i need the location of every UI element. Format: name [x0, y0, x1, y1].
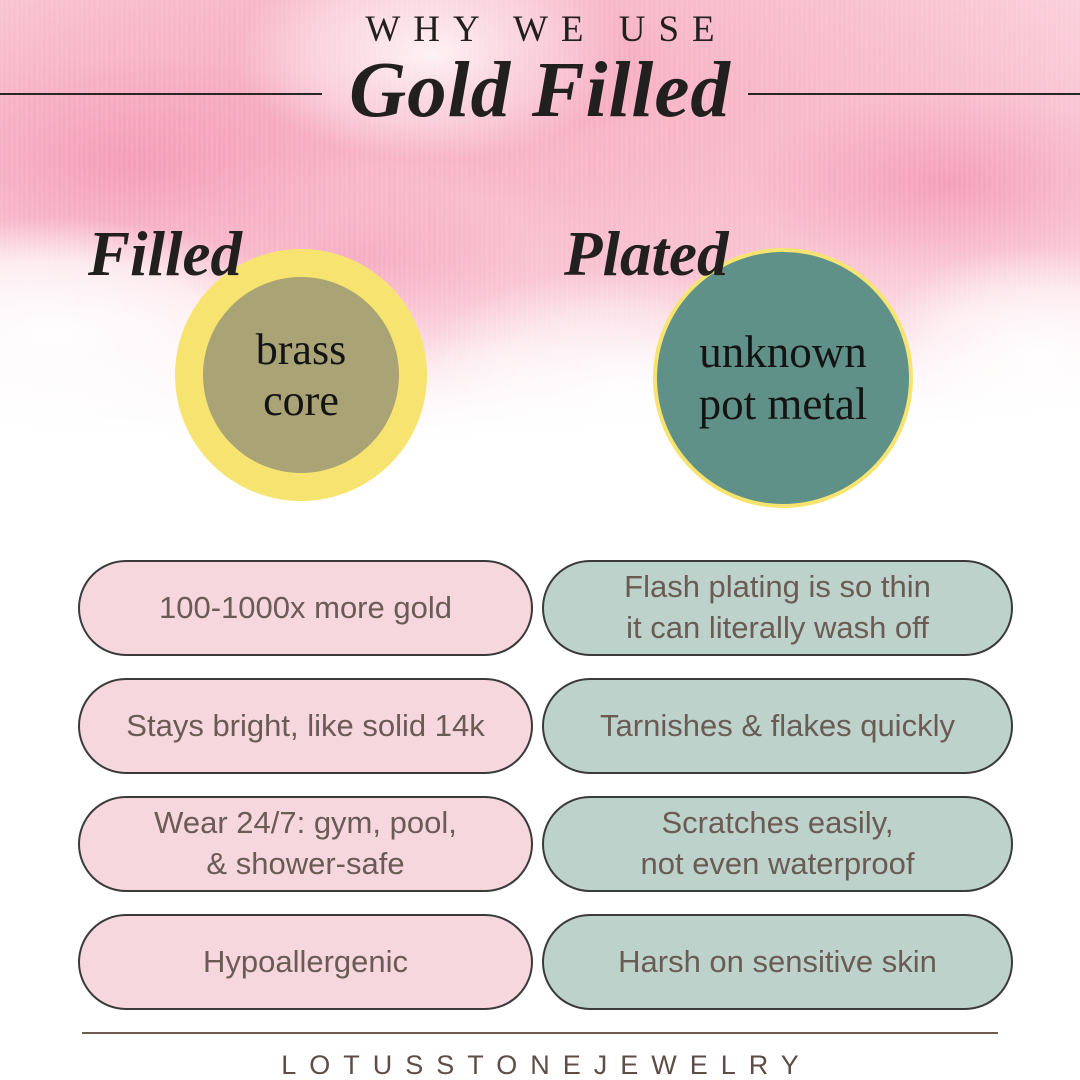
pill-plated-drawback: Tarnishes & flakes quickly: [542, 678, 1013, 774]
header: WHY WE USE Gold Filled: [0, 0, 1080, 150]
pill-plated-drawback: Harsh on sensitive skin: [542, 914, 1013, 1010]
pill-filled-benefit: Wear 24/7: gym, pool, & shower-safe: [78, 796, 533, 892]
comparison-row: Stays bright, like solid 14k Tarnishes &…: [0, 678, 1080, 774]
comparison-list: 100-1000x more gold Flash plating is so …: [0, 560, 1080, 1032]
pill-filled-benefit: Hypoallergenic: [78, 914, 533, 1010]
comparison-row: Wear 24/7: gym, pool, & shower-safe Scra…: [0, 796, 1080, 892]
column-label-plated: Plated: [564, 218, 728, 291]
pill-filled-benefit: Stays bright, like solid 14k: [78, 678, 533, 774]
header-eyebrow: WHY WE USE: [0, 8, 1080, 51]
pot-metal-label: unknown pot metal: [699, 326, 868, 430]
brand-name: LOTUSSTONEJEWELRY: [0, 1050, 1080, 1080]
comparison-row: 100-1000x more gold Flash plating is so …: [0, 560, 1080, 656]
pill-plated-drawback: Scratches easily, not even waterproof: [542, 796, 1013, 892]
brass-core-circle: brass core: [203, 277, 399, 473]
page-title: Gold Filled: [0, 50, 1080, 133]
column-label-filled: Filled: [88, 218, 242, 291]
pill-filled-benefit: 100-1000x more gold: [78, 560, 533, 656]
circle-diagram: Filled brass core Plated unknown pot met…: [0, 200, 1080, 520]
footer: LOTUSSTONEJEWELRY: [0, 1018, 1080, 1080]
footer-divider: [82, 1032, 998, 1034]
infographic-canvas: WHY WE USE Gold Filled Filled brass core…: [0, 0, 1080, 1080]
pill-plated-drawback: Flash plating is so thin it can literall…: [542, 560, 1013, 656]
comparison-row: Hypoallergenic Harsh on sensitive skin: [0, 914, 1080, 1010]
brass-core-label: brass core: [256, 324, 346, 426]
